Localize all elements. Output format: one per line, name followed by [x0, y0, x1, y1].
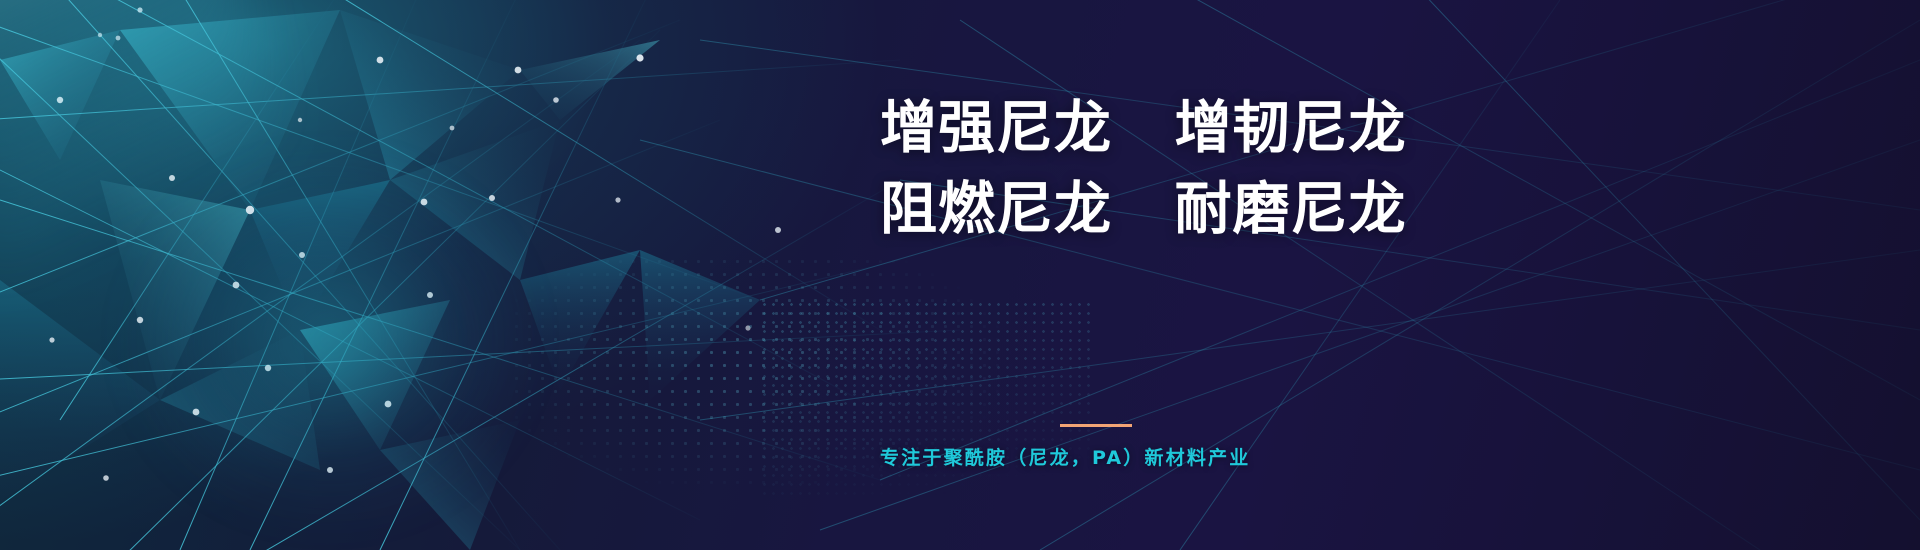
- headline-line-1: 增强尼龙 增韧尼龙: [880, 88, 1580, 169]
- secondary-glow: [120, 150, 540, 530]
- tagline-text: 专注于聚酰胺（尼龙，PA）新材料产业: [880, 443, 1580, 470]
- tagline-divider: [1060, 424, 1132, 427]
- headline-group: 增强尼龙 增韧尼龙 阻燃尼龙 耐磨尼龙: [880, 88, 1580, 250]
- banner-content: 增强尼龙 增韧尼龙 阻燃尼龙 耐磨尼龙 专注于聚酰胺（尼龙，PA）新材料产业: [880, 0, 1580, 550]
- hero-banner: 增强尼龙 增韧尼龙 阻燃尼龙 耐磨尼龙 专注于聚酰胺（尼龙，PA）新材料产业: [0, 0, 1920, 550]
- headline-line-2: 阻燃尼龙 耐磨尼龙: [880, 169, 1580, 250]
- tagline-group: 专注于聚酰胺（尼龙，PA）新材料产业: [880, 424, 1580, 470]
